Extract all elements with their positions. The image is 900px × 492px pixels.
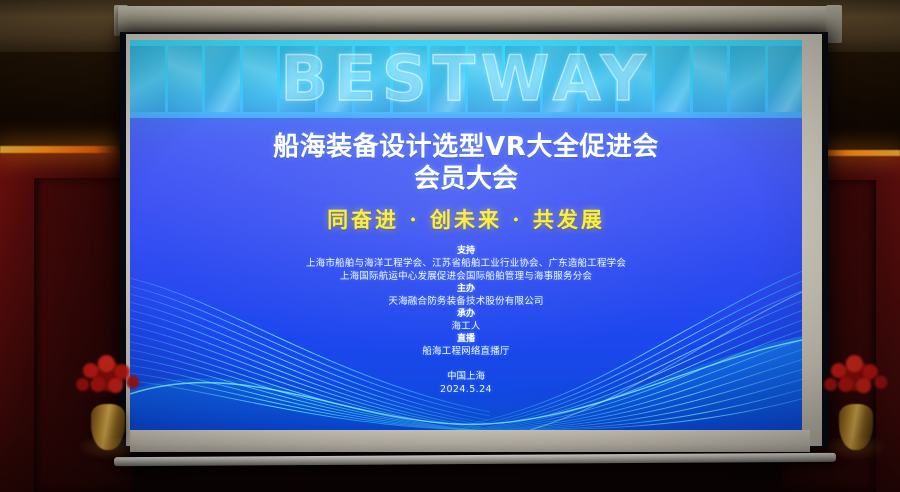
screenshot-stage: ★ BESTWAY SCREEN BESTWAY — [0, 0, 900, 492]
credits-host: 主办 天海融合防务装备技术股份有限公司 — [130, 283, 802, 308]
credits-livestream: 直播 船海工程网络直播厅 — [130, 333, 802, 358]
slide-title-line1: 船海装备设计选型VR大全促进会 — [130, 132, 802, 163]
credit-org-support-2: 上海国际航运中心发展促进会国际船舶管理与海事服务分会 — [130, 270, 802, 283]
credits-support: 支持 上海市船舶与海洋工程学会、江苏省船舶工业行业协会、广东造船工程学会 上海国… — [130, 245, 802, 283]
credit-label-organizer: 承办 — [130, 308, 802, 320]
slide-title-line2: 会员大会 — [130, 163, 802, 195]
credit-org-support-1: 上海市船舶与海洋工程学会、江苏省船舶工业行业协会、广东造船工程学会 — [130, 257, 802, 270]
slide-content: 船海装备设计选型VR大全促进会 会员大会 同奋进 · 创未来 · 共发展 支持 … — [130, 118, 802, 430]
credit-label-livestream: 直播 — [130, 333, 802, 345]
credit-org-organizer: 海工人 — [130, 320, 802, 333]
credits-organizer: 承办 海工人 — [130, 308, 802, 333]
bestway-wordmark: BESTWAY — [130, 40, 802, 118]
screen-roller-cap-right — [826, 5, 842, 43]
credit-org-host: 天海融合防务装备技术股份有限公司 — [130, 295, 802, 308]
credit-org-livestream: 船海工程网络直播厅 — [130, 345, 802, 358]
screen-roller-housing: ★ BESTWAY SCREEN — [118, 6, 834, 34]
screen-blank-margin — [130, 430, 810, 452]
flower-blooms-right — [824, 352, 890, 410]
slide-slogan: 同奋进 · 创未来 · 共发展 — [130, 204, 802, 234]
flower-arrangement-left — [72, 352, 146, 464]
flower-floor-glow-right — [826, 438, 886, 460]
credit-label-support: 支持 — [130, 245, 802, 257]
flower-arrangement-right — [820, 352, 894, 464]
cove-light-left — [0, 146, 118, 153]
slide-date: 2024.5.24 — [130, 383, 802, 396]
projected-slide: BESTWAY — [130, 40, 802, 430]
flower-blooms-left — [76, 352, 142, 410]
slide-logo-band: BESTWAY — [130, 40, 802, 118]
credit-label-host: 主办 — [130, 283, 802, 295]
flower-floor-glow-left — [78, 438, 138, 460]
slide-place: 中国上海 — [130, 370, 802, 383]
